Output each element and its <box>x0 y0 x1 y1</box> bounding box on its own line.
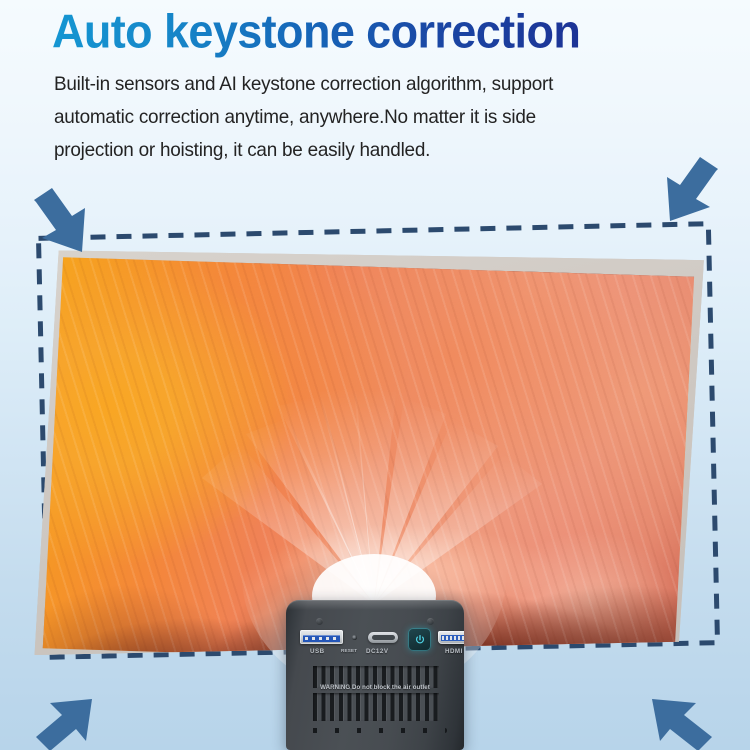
subtitle-block: Built-in sensors and AI keystone correct… <box>54 68 714 167</box>
reset-port-label: RESET <box>341 648 357 653</box>
arrow-down-left-icon <box>660 155 726 225</box>
arrow-down-right-icon <box>26 186 90 254</box>
screw-left-icon <box>316 618 323 625</box>
hdmi-port-label: HDMI <box>445 648 463 655</box>
header-section: Auto keystone correction Built-in sensor… <box>0 0 750 178</box>
projector-device: USB RESET DC12V HDMI WARNING Do not bloc… <box>286 600 464 750</box>
reset-pinhole[interactable] <box>352 635 357 640</box>
projector-top-edge <box>286 600 464 610</box>
vent-grille-top <box>313 666 439 667</box>
power-icon <box>414 634 426 646</box>
warning-label: WARNING Do not block the air outlet <box>286 684 464 691</box>
speaker-dot-row <box>304 728 447 733</box>
power-button[interactable] <box>408 628 431 651</box>
dc12v-port[interactable] <box>368 632 398 643</box>
screw-right-icon <box>427 618 434 625</box>
subtitle-line-3: projection or hoisting, it can be easily… <box>54 134 694 167</box>
vent-grille-bottom <box>313 693 439 694</box>
usb-port[interactable] <box>300 630 343 644</box>
arrow-up-left-icon <box>648 697 716 750</box>
subtitle-line-2: automatic correction anytime, anywhere.N… <box>54 101 694 134</box>
vent-slats-bottom <box>313 693 439 721</box>
usb-port-insert <box>303 635 340 642</box>
subtitle-line-1: Built-in sensors and AI keystone correct… <box>54 68 694 101</box>
arrow-up-right-icon <box>32 697 98 750</box>
usb-port-label: USB <box>310 648 325 655</box>
projector-body: USB RESET DC12V HDMI WARNING Do not bloc… <box>286 600 464 750</box>
hdmi-port[interactable] <box>438 631 464 644</box>
port-panel: USB RESET DC12V HDMI <box>286 628 464 658</box>
page-title: Auto keystone correction <box>52 4 580 59</box>
hdmi-port-insert <box>441 635 464 641</box>
dc12v-port-label: DC12V <box>366 648 388 655</box>
